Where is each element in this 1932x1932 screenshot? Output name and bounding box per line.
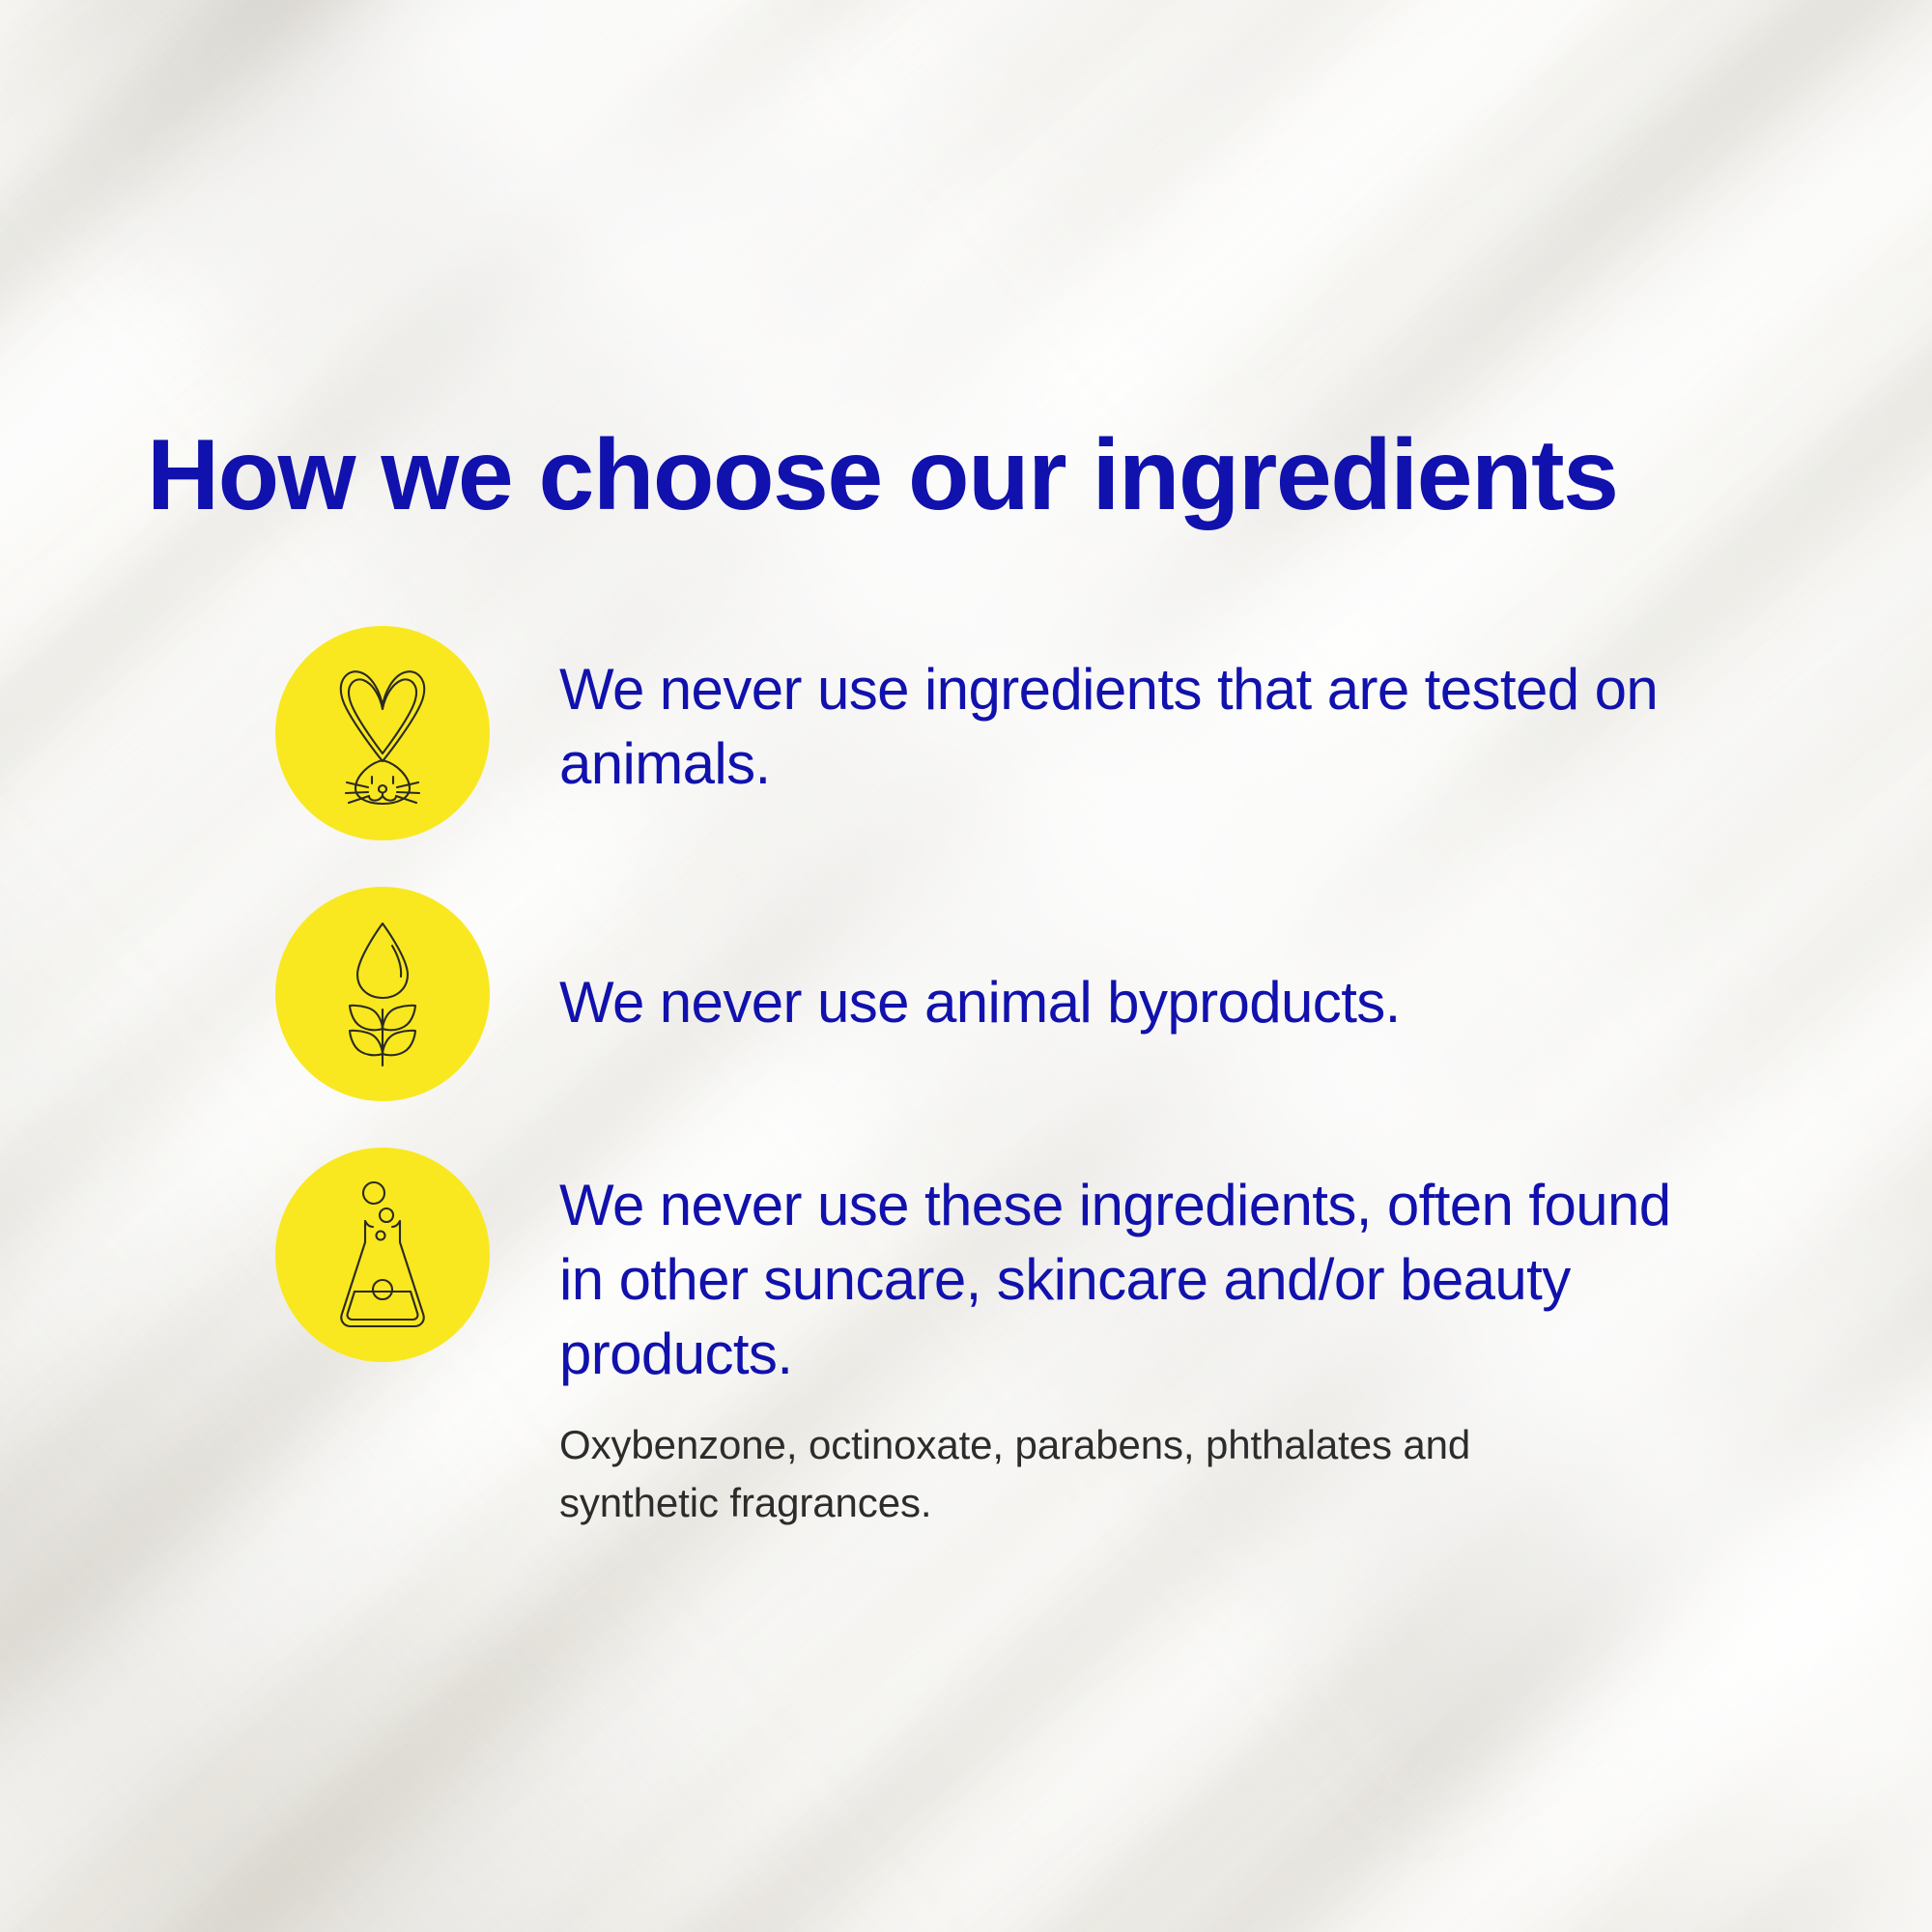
list-item: We never use animal byproducts. (275, 887, 1821, 1148)
list-item-text-wrap: We never use ingredients that are tested… (490, 626, 1821, 802)
icon-badge-cruelty-free (275, 626, 490, 840)
plant-droplet-icon (332, 921, 433, 1067)
list-item: We never use ingredients that are tested… (275, 626, 1821, 887)
list-item-text-wrap: We never use these ingredients, often fo… (490, 1148, 1821, 1532)
erlenmeyer-flask-icon (333, 1180, 432, 1329)
benefits-list: We never use ingredients that are tested… (275, 626, 1821, 1532)
list-item-caption: Oxybenzone, octinoxate, parabens, phthal… (559, 1416, 1583, 1531)
list-item: We never use these ingredients, often fo… (275, 1148, 1821, 1532)
icon-badge-plant-based (275, 887, 490, 1101)
ingredients-info-graphic: How we choose our ingredients (0, 0, 1932, 1932)
list-item-label: We never use these ingredients, often fo… (559, 1169, 1728, 1391)
cruelty-free-bunny-icon (326, 661, 440, 806)
icon-badge-no-bad-chemicals (275, 1148, 490, 1362)
list-item-text-wrap: We never use animal byproducts. (490, 887, 1821, 1040)
content-layer: How we choose our ingredients (0, 0, 1932, 1932)
list-item-label: We never use ingredients that are tested… (559, 653, 1728, 802)
list-item-label: We never use animal byproducts. (559, 966, 1728, 1040)
page-title: How we choose our ingredients (147, 423, 1618, 527)
